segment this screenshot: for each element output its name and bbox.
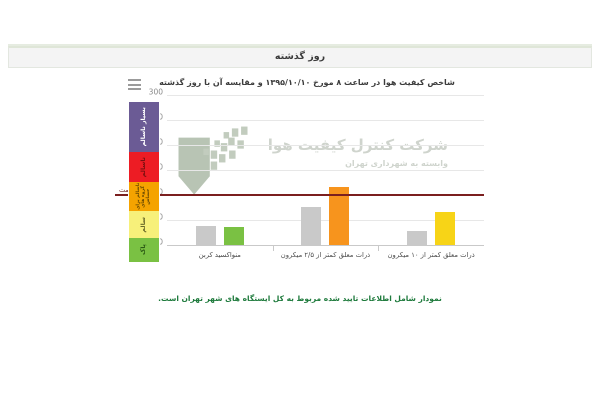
bar-group: ذرات معلق کمتر از ۱۰ میکرون (378, 96, 484, 246)
footer-caption: نمودار شامل اطلاعات تایید شده مربوط به ک… (0, 294, 600, 303)
y-axis-tick-label: 300 (139, 88, 163, 97)
x-axis-category-label: ذرات معلق کمتر از ۲/۵ میکرون (277, 251, 373, 260)
aqi-legend-band: بسیار ناسالم (129, 102, 159, 152)
aqi-legend-band-label: ناسالم (141, 157, 148, 177)
page-root: روز گذشته شاخص کیفیت هوا در ساعت ۸ مورخ … (0, 0, 600, 400)
x-axis-line (167, 245, 484, 246)
bar-today[interactable] (224, 227, 244, 247)
aqi-legend: بسیار ناسالمناسالمناسالم برای گروه های ح… (128, 101, 160, 263)
aqi-legend-band: ناسالم (129, 152, 159, 182)
chart-container: شاخص کیفیت هوا در ساعت ۸ مورخ ۱۳۹۵/۱۰/۱۰… (120, 78, 490, 288)
tab-yesterday[interactable]: روز گذشته (9, 51, 591, 62)
bar-today[interactable] (435, 212, 455, 246)
burger-line-1 (128, 79, 141, 81)
x-axis-category-label: منواکسید کربن (172, 251, 268, 260)
burger-line-2 (128, 84, 141, 86)
chart-title: شاخص کیفیت هوا در ساعت ۸ مورخ ۱۳۹۵/۱۰/۱۰… (142, 78, 472, 87)
bar-group: ذرات معلق کمتر از ۲/۵ میکرون (273, 96, 379, 246)
x-axis-category-label: ذرات معلق کمتر از ۱۰ میکرون (383, 251, 479, 260)
tab-bar: روز گذشته (8, 46, 592, 68)
plot-area: شرکت کنترل کیفیت هوا وابسته به شهرداری ت… (167, 96, 484, 246)
aqi-legend-band-label: ناسالم برای گروه های حساس (136, 182, 151, 211)
x-axis-tick (273, 246, 274, 251)
aqi-legend-band-label: بسیار ناسالم (141, 107, 148, 146)
aqi-legend-band: پاک (129, 238, 159, 262)
bar-group: منواکسید کربن (167, 96, 273, 246)
x-axis-tick (378, 246, 379, 251)
aqi-legend-band-label: سالم (141, 217, 148, 233)
aqi-legend-band: سالم (129, 211, 159, 238)
bar-yesterday[interactable] (301, 207, 321, 246)
aqi-legend-band-label: پاک (141, 244, 148, 255)
health-limit-line (115, 194, 484, 196)
bar-yesterday[interactable] (196, 226, 216, 247)
aqi-legend-band: ناسالم برای گروه های حساس (129, 182, 159, 211)
bar-yesterday[interactable] (407, 231, 427, 246)
